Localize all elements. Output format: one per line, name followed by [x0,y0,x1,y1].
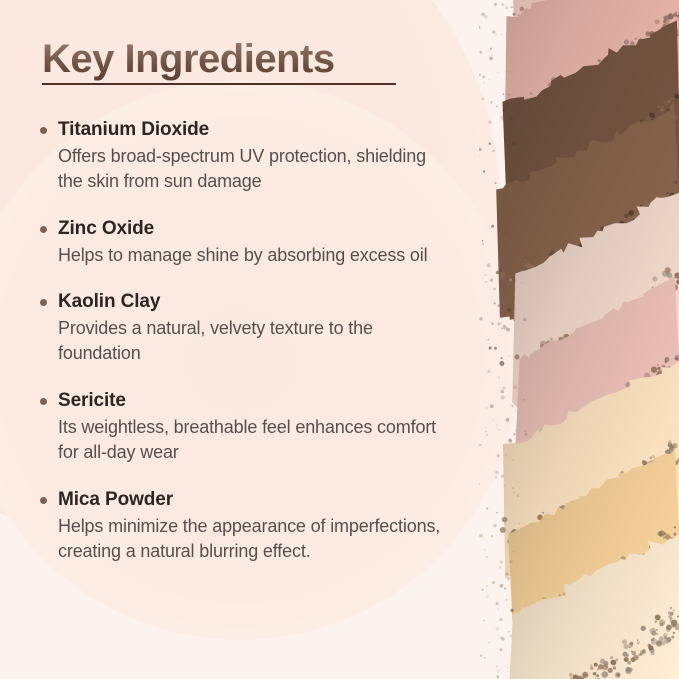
list-item: Mica Powder Helps minimize the appearanc… [40,488,450,565]
list-item: Zinc Oxide Helps to manage shine by abso… [40,217,450,268]
ingredient-name: Mica Powder [58,488,450,512]
page-title-block: Key Ingredients [42,38,396,85]
ingredient-name: Titanium Dioxide [58,118,450,142]
bullet-icon [40,226,47,233]
list-item: Sericite Its weightless, breathable feel… [40,389,450,466]
bullet-icon [40,398,47,405]
powder-swatch-graphic [479,0,679,679]
ingredient-description: Offers broad-spectrum UV protection, shi… [58,144,450,195]
bullet-icon [40,497,47,504]
list-item: Titanium Dioxide Offers broad-spectrum U… [40,118,450,195]
ingredient-description: Helps to manage shine by absorbing exces… [58,243,450,269]
bullet-icon [40,299,47,306]
bullet-icon [40,127,47,134]
ingredient-name: Zinc Oxide [58,217,450,241]
ingredient-name: Kaolin Clay [58,290,450,314]
ingredient-description: Its weightless, breathable feel enhances… [58,415,450,466]
text-column: Key Ingredients Titanium Dioxide Offers … [0,0,470,679]
powder-swatch-image [479,0,679,679]
ingredient-name: Sericite [58,389,450,413]
list-item: Kaolin Clay Provides a natural, velvety … [40,290,450,367]
ingredient-description: Helps minimize the appearance of imperfe… [58,514,450,565]
title-underline [42,83,396,85]
ingredient-description: Provides a natural, velvety texture to t… [58,316,450,367]
ingredients-infographic: Key Ingredients Titanium Dioxide Offers … [0,0,679,679]
page-title: Key Ingredients [42,38,396,81]
ingredients-list: Titanium Dioxide Offers broad-spectrum U… [40,118,450,565]
